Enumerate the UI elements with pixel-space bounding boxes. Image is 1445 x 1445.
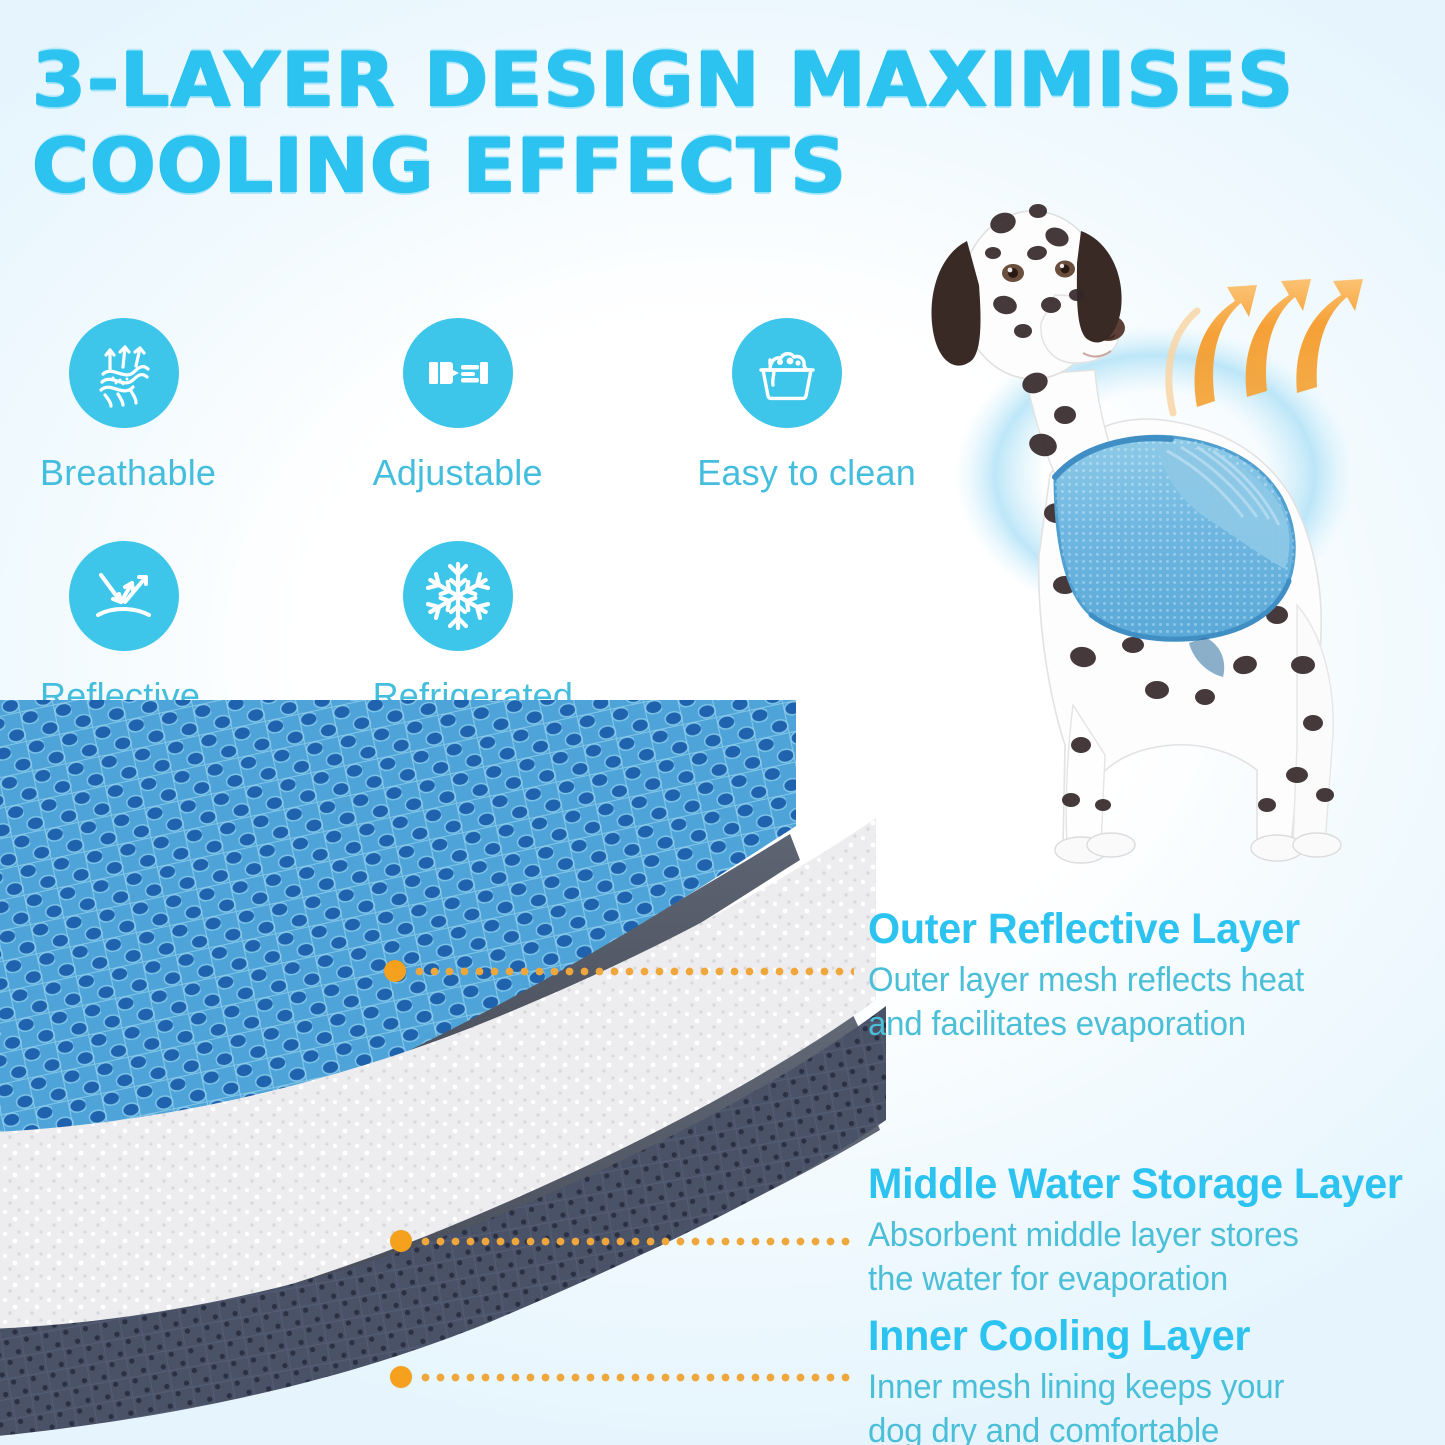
product-photo-dog-wearing-vest — [905, 145, 1445, 885]
feature-label: Adjustable — [373, 452, 706, 494]
page-title-line-1: 3-LAYER DESIGN MAXIMISES — [32, 44, 1164, 116]
dog-ear-right — [1077, 231, 1122, 342]
dotted-leader — [412, 967, 854, 976]
feature-reflective: Reflective — [40, 541, 373, 717]
feature-label: Breathable — [40, 452, 373, 494]
feature-breathable: Breathable — [40, 318, 373, 494]
callout-heading: Outer Reflective Layer — [868, 905, 1319, 954]
callout-middle-water-storage-layer: Middle Water Storage Layer Absorbent mid… — [868, 1160, 1425, 1301]
leader-dot-icon — [390, 1230, 412, 1252]
leader-line-inner — [390, 1370, 856, 1384]
callout-heading: Middle Water Storage Layer — [868, 1160, 1403, 1209]
feature-adjustable: Adjustable — [373, 318, 706, 494]
feature-list: Breathable Adj — [40, 318, 940, 717]
side-release-buckle-icon — [403, 318, 513, 428]
snowflake-icon — [403, 541, 513, 651]
callout-heading: Inner Cooling Layer — [868, 1312, 1319, 1361]
callout-inner-cooling-layer: Inner Cooling Layer Inner mesh lining ke… — [868, 1312, 1338, 1445]
dotted-leader — [418, 1237, 856, 1246]
leader-dot-icon — [384, 960, 406, 982]
feature-label: Easy to clean — [697, 452, 940, 494]
fabric-layer-stack — [0, 700, 900, 1445]
leader-line-outer — [384, 964, 854, 978]
leader-line-middle — [390, 1234, 856, 1248]
leader-dot-icon — [390, 1366, 412, 1388]
callout-description: Absorbent middle layer stores the water … — [868, 1214, 1305, 1301]
infographic-page: 3-LAYER DESIGN MAXIMISES COOLING EFFECTS — [0, 0, 1445, 1445]
dotted-leader — [418, 1373, 856, 1382]
breathable-fabric-airflow-icon — [69, 318, 179, 428]
wash-basin-suds-icon — [732, 318, 842, 428]
callout-description: Outer layer mesh reflects heat and facil… — [868, 959, 1324, 1046]
feature-refrigerated: Refrigerated — [373, 541, 706, 717]
callout-description: Inner mesh lining keeps your dog dry and… — [868, 1366, 1324, 1445]
reflective-arrows-icon — [69, 541, 179, 651]
callout-outer-reflective-layer: Outer Reflective Layer Outer layer mesh … — [868, 905, 1338, 1046]
